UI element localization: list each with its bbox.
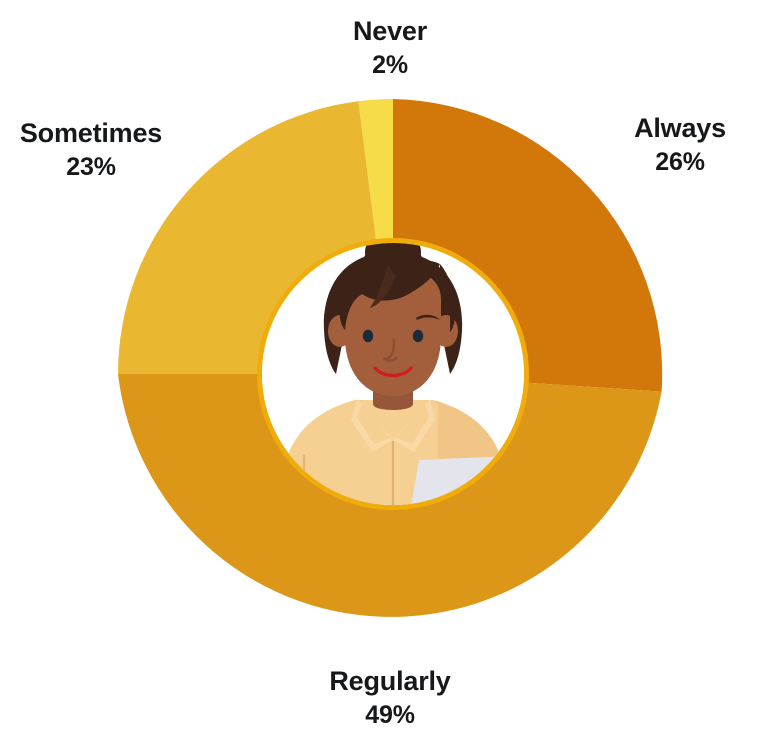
slice-label-never-value: 2% xyxy=(268,51,512,81)
slice-label-always-name: Always xyxy=(592,113,768,145)
slice-label-sometimes-name: Sometimes xyxy=(0,118,182,150)
slice-label-always: Always 26% xyxy=(592,113,768,177)
slice-label-sometimes-value: 23% xyxy=(0,153,182,183)
avatar-eye-right xyxy=(413,330,423,342)
slice-label-always-value: 26% xyxy=(592,148,768,178)
slice-label-regularly: Regularly 49% xyxy=(268,666,512,730)
slice-label-never: Never 2% xyxy=(268,16,512,80)
slice-label-never-name: Never xyxy=(268,16,512,48)
slice-label-regularly-value: 49% xyxy=(268,701,512,731)
donut-chart: Never 2% Always 26% Sometimes 23% Regula… xyxy=(0,0,768,750)
slice-label-regularly-name: Regularly xyxy=(268,666,512,698)
avatar-eye-left xyxy=(363,330,373,342)
slice-label-sometimes: Sometimes 23% xyxy=(0,118,182,182)
